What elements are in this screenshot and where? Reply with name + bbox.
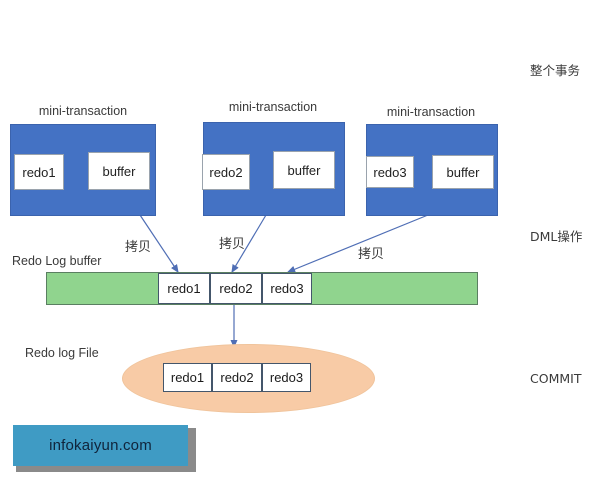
- mt3-buffer-box: buffer: [432, 155, 494, 189]
- redo-log-buffer-segment-2: redo2: [210, 273, 262, 304]
- stage-label-commit: COMMIT: [530, 371, 581, 386]
- copy-label-3: 拷贝: [358, 243, 384, 262]
- mini-transaction-title-3: mini-transaction: [365, 105, 497, 119]
- redo-log-file-label: Redo log File: [25, 346, 99, 360]
- stage-label-dml-operation: DML操作: [530, 226, 582, 245]
- mt2-buffer-box: buffer: [273, 151, 335, 189]
- mt1-redo-box: redo1: [14, 154, 64, 190]
- redo-log-file-segment-3: redo3: [262, 363, 311, 392]
- mt1-buffer-box: buffer: [88, 152, 150, 190]
- redo-log-buffer-segment-3: redo3: [262, 273, 312, 304]
- mt3-redo-box: redo3: [366, 156, 414, 188]
- redo-log-buffer-label: Redo Log buffer: [12, 254, 101, 268]
- mini-transaction-title-1: mini-transaction: [10, 104, 156, 118]
- redo-log-file-segment-2: redo2: [212, 363, 262, 392]
- copy-label-1: 拷贝: [125, 236, 151, 255]
- diagram-canvas: 整个事务 DML操作 COMMIT mini-transaction redo1…: [0, 0, 600, 480]
- mini-transaction-title-2: mini-transaction: [200, 100, 346, 114]
- redo-log-buffer-segment-1: redo1: [158, 273, 210, 304]
- stage-label-whole-transaction: 整个事务: [530, 60, 580, 79]
- copy-label-2: 拷贝: [219, 233, 245, 252]
- mt2-redo-box: redo2: [202, 154, 250, 190]
- watermark-badge: infokaiyun.com: [13, 425, 188, 466]
- redo-log-file-segment-1: redo1: [163, 363, 212, 392]
